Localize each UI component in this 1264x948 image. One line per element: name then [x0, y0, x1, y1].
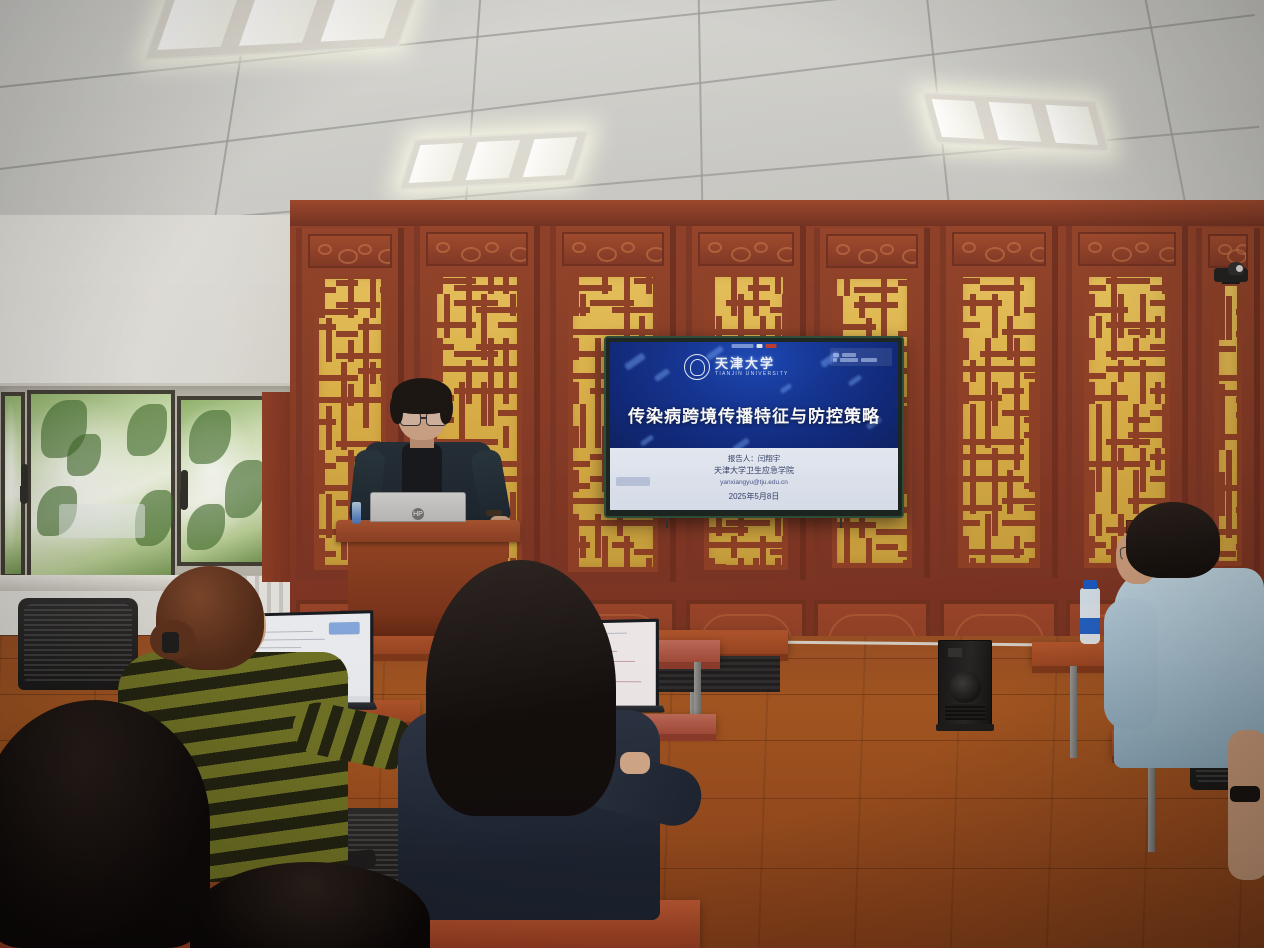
window-handle[interactable]: [181, 470, 188, 496]
ceiling-light-fixture: [922, 92, 1111, 153]
slide-date: 2025年5月8日: [610, 492, 898, 502]
university-name-cn: 天津大学: [715, 357, 789, 370]
display-stand-leg: [666, 518, 668, 528]
slide-email: yanxiangyu@tju.edu.cn: [610, 479, 898, 487]
window-handle[interactable]: [21, 464, 28, 490]
presenter-laptop[interactable]: HP: [370, 492, 466, 522]
presentation-display[interactable]: 天津大学 TIANJIN UNIVERSITY 传染病跨境传播特征与防控策略 报…: [604, 336, 904, 518]
presenter-glasses: [400, 412, 421, 426]
window-pane: [177, 396, 273, 566]
window: [0, 383, 300, 589]
slide-upper-area: 天津大学 TIANJIN UNIVERSITY 传染病跨境传播特征与防控策略: [610, 342, 898, 458]
slide-status-overlay: [830, 348, 892, 366]
university-logo: 天津大学 TIANJIN UNIVERSITY: [684, 352, 804, 382]
display-screen: 天津大学 TIANJIN UNIVERSITY 传染病跨境传播特征与防控策略 报…: [610, 342, 898, 510]
wristwatch: [1230, 786, 1260, 802]
loudspeaker: [938, 640, 992, 726]
slide-speaker: 报告人：闫翔宇: [610, 454, 898, 463]
attendee-navy-jacket: [396, 560, 726, 920]
water-bottle: [352, 502, 361, 524]
bottle-cap: [1083, 580, 1097, 589]
slide-top-overlay: [732, 344, 777, 348]
hp-logo: HP: [412, 508, 424, 520]
attendee-hand: [620, 752, 650, 774]
slide-title: 传染病跨境传播特征与防控策略: [610, 402, 898, 427]
ptz-camera-icon: [1214, 262, 1248, 288]
lecture-room-photo: 天津大学 TIANJIN UNIVERSITY 传染病跨境传播特征与防控策略 报…: [0, 0, 1264, 948]
university-name-en: TIANJIN UNIVERSITY: [715, 372, 789, 377]
ceiling-light-fixture: [144, 0, 423, 60]
water-bottle: [1080, 588, 1100, 644]
ceiling-light-fixture: [398, 130, 589, 191]
slide-status-pill: [616, 477, 650, 486]
hair-clip: [162, 632, 179, 653]
slide-lower-area: 报告人：闫翔宇 天津大学卫生应急学院 yanxiangyu@tju.edu.cn…: [610, 448, 898, 510]
attendee-foreground-right: [1228, 700, 1264, 948]
window-pane: [27, 390, 175, 582]
table-leg: [1070, 666, 1077, 758]
slide-affiliation: 天津大学卫生应急学院: [610, 466, 898, 476]
university-seal-icon: [684, 354, 710, 380]
display-stand-leg: [840, 518, 842, 528]
